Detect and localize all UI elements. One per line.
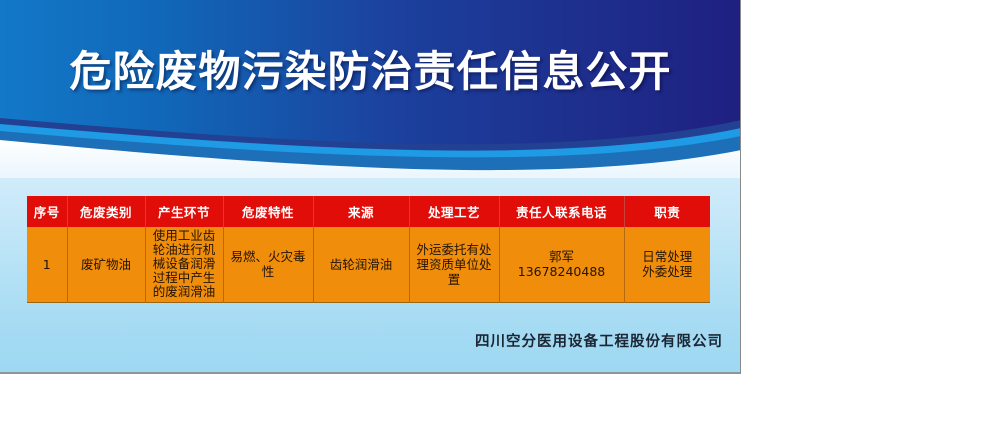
cell-contact: 郭军 13678240488 [499,227,624,302]
column-header-category: 危废类别 [67,196,145,227]
table-row: 1 废矿物油 使用工业齿轮油进行机械设备润滑过程中产生的废润滑油 易燃、火灾毒性… [27,227,710,302]
column-header-stage: 产生环节 [145,196,223,227]
column-header-characteristics: 危废特性 [223,196,313,227]
contact-person-name: 郭军 [503,249,621,264]
poster-panel: 危险废物污染防治责任信息公开 序号 危废类别 产生环节 危废特性 [0,0,741,374]
cell-process: 外运委托有处理资质单位处置 [409,227,499,302]
company-name: 四川空分医用设备工程股份有限公司 [0,330,723,351]
cell-stage: 使用工业齿轮油进行机械设备润滑过程中产生的废润滑油 [145,227,223,302]
cell-source: 齿轮润滑油 [313,227,409,302]
table-header-row: 序号 危废类别 产生环节 危废特性 来源 处理工艺 责任人联系电话 职责 [27,196,710,227]
column-header-index: 序号 [27,196,67,227]
contact-phone-number: 13678240488 [503,264,621,279]
column-header-source: 来源 [313,196,409,227]
cell-characteristics: 易燃、火灾毒性 [223,227,313,302]
duty-line-2: 外委处理 [628,264,708,279]
column-header-contact: 责任人联系电话 [499,196,624,227]
cell-category: 废矿物油 [67,227,145,302]
column-header-process: 处理工艺 [409,196,499,227]
hazardous-waste-table: 序号 危废类别 产生环节 危废特性 来源 处理工艺 责任人联系电话 职责 1 废… [27,196,710,303]
page-title: 危险废物污染防治责任信息公开 [0,44,741,100]
cell-index: 1 [27,227,67,302]
duty-line-1: 日常处理 [628,249,708,264]
hazardous-waste-table-container: 序号 危废类别 产生环节 危废特性 来源 处理工艺 责任人联系电话 职责 1 废… [27,196,710,303]
cell-duty: 日常处理 外委处理 [624,227,710,302]
column-header-duty: 职责 [624,196,710,227]
banner-header: 危险废物污染防治责任信息公开 [0,0,741,178]
